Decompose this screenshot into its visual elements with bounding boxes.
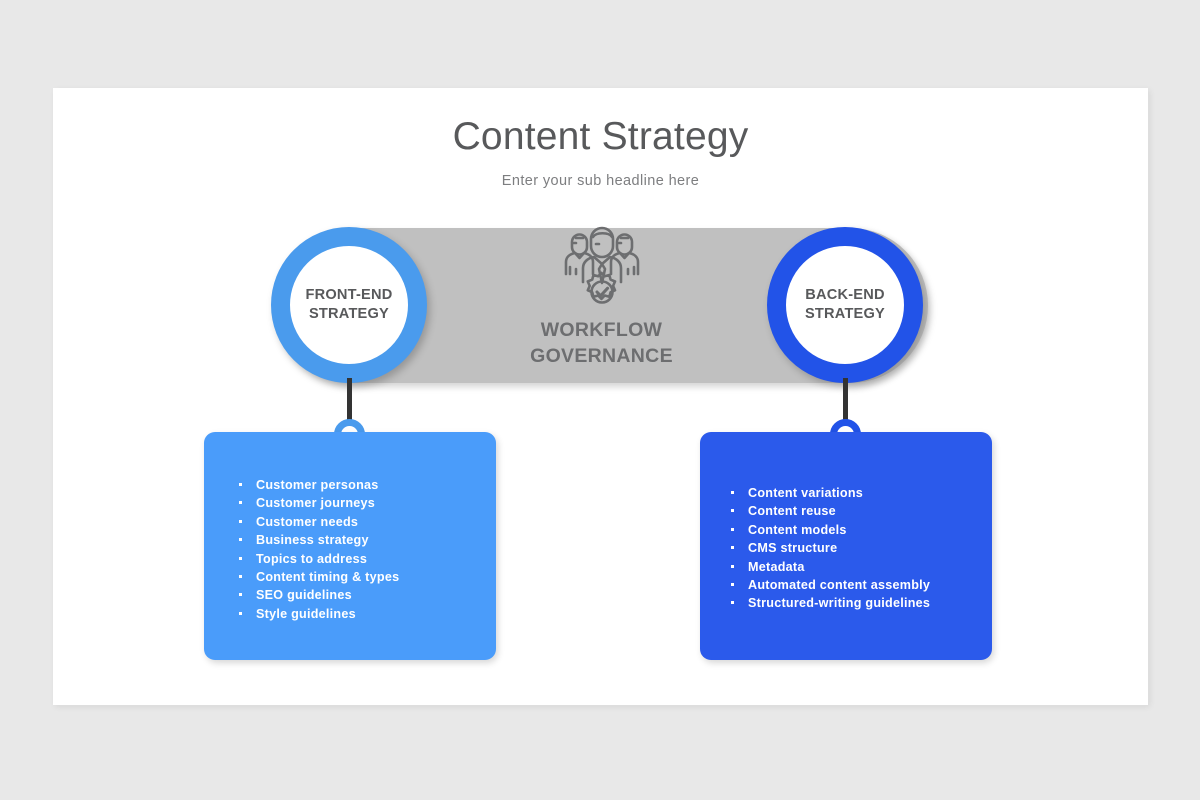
list-item: Content variations	[729, 484, 930, 502]
list-item: Content reuse	[729, 502, 930, 520]
list-item: Topics to address	[237, 550, 399, 568]
list-item: Content models	[729, 521, 930, 539]
list-item: SEO guidelines	[237, 586, 399, 604]
card-front-end-strategy[interactable]: Customer personas Customer journeys Cust…	[204, 432, 496, 660]
workflow-label-line1: WORKFLOW	[541, 319, 663, 341]
team-gear-check-icon	[552, 226, 652, 312]
node-back-end-label: BACK-END STRATEGY	[805, 286, 885, 325]
list-item: Style guidelines	[237, 605, 399, 623]
page-subtitle: Enter your sub headline here	[53, 173, 1148, 189]
card-back-end-strategy[interactable]: Content variations Content reuse Content…	[700, 432, 992, 660]
back-end-list: Content variations Content reuse Content…	[729, 484, 930, 613]
node-front-end-line1: FRONT-END	[306, 287, 393, 303]
list-item: Metadata	[729, 558, 930, 576]
page-title: Content Strategy	[53, 115, 1148, 159]
node-back-end-strategy[interactable]: BACK-END STRATEGY	[767, 227, 923, 383]
list-item: Automated content assembly	[729, 576, 930, 594]
list-item: Customer personas	[237, 476, 399, 494]
list-item: Content timing & types	[237, 568, 399, 586]
list-item: Customer journeys	[237, 494, 399, 512]
node-front-end-label: FRONT-END STRATEGY	[306, 286, 393, 325]
front-end-list: Customer personas Customer journeys Cust…	[237, 476, 399, 623]
workflow-label-line2: GOVERNANCE	[530, 345, 673, 367]
workflow-label: WORKFLOW GOVERNANCE	[470, 318, 733, 369]
list-item: Customer needs	[237, 513, 399, 531]
node-back-end-line1: BACK-END	[805, 287, 884, 303]
list-item: Structured-writing guidelines	[729, 594, 930, 612]
list-item: Business strategy	[237, 531, 399, 549]
node-front-end-strategy[interactable]: FRONT-END STRATEGY	[271, 227, 427, 383]
list-item: CMS structure	[729, 539, 930, 557]
node-back-end-line2: STRATEGY	[805, 306, 885, 322]
node-front-end-line2: STRATEGY	[309, 306, 389, 322]
slide-canvas: Content Strategy Enter your sub headline…	[53, 88, 1148, 705]
workflow-governance-block: WORKFLOW GOVERNANCE	[470, 226, 733, 369]
